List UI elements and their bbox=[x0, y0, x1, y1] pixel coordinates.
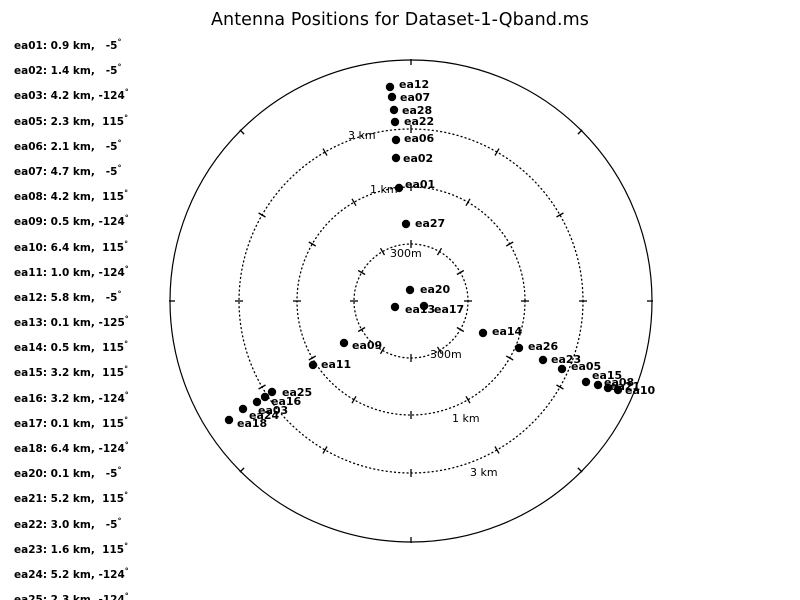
antenna-marker-ea08 bbox=[594, 381, 602, 389]
ring-tick bbox=[309, 242, 316, 246]
antenna-marker-ea18 bbox=[225, 416, 233, 424]
ring-tick bbox=[466, 199, 470, 206]
ring-tick bbox=[506, 356, 513, 360]
ring-tick bbox=[358, 328, 365, 332]
antenna-marker-ea12 bbox=[386, 83, 394, 91]
ring-tick bbox=[556, 385, 563, 389]
ring-tick bbox=[556, 213, 563, 217]
antenna-marker-ea23 bbox=[539, 356, 547, 364]
antenna-marker-ea20 bbox=[406, 286, 414, 294]
ring-label-1km: 1 km bbox=[370, 183, 398, 196]
antenna-label-ea09: ea09 bbox=[352, 339, 382, 352]
ring-tick bbox=[352, 199, 356, 206]
antenna-marker-ea15 bbox=[582, 378, 590, 386]
antenna-marker-ea17 bbox=[420, 302, 428, 310]
antenna-marker-ea09 bbox=[340, 339, 348, 347]
ring-tick bbox=[466, 396, 470, 403]
ring-label-1km: 1 km bbox=[452, 412, 480, 425]
antenna-marker-ea25 bbox=[268, 388, 276, 396]
antenna-label-ea01: ea01 bbox=[405, 178, 435, 191]
radial-ring-1km bbox=[297, 187, 525, 415]
outer-tick bbox=[240, 130, 244, 134]
ring-tick bbox=[259, 213, 266, 217]
antenna-label-ea27: ea27 bbox=[415, 217, 445, 230]
polar-plot-area: 300m300m1 km1 km3 km3 km ea01ea02ea03ea0… bbox=[0, 0, 800, 600]
ring-label-300m: 300m bbox=[390, 247, 422, 260]
antenna-label-ea20: ea20 bbox=[420, 283, 451, 296]
ring-tick bbox=[352, 396, 356, 403]
antenna-position-plot-page: Antenna Positions for Dataset-1-Qband.ms… bbox=[0, 0, 800, 600]
polar-plot-svg: 300m300m1 km1 km3 km3 km ea01ea02ea03ea0… bbox=[0, 0, 800, 600]
outer-tick bbox=[578, 468, 582, 472]
antenna-label-ea26: ea26 bbox=[528, 340, 559, 353]
antenna-label-ea07: ea07 bbox=[400, 91, 430, 104]
antenna-marker-ea01 bbox=[395, 184, 403, 192]
outer-tick bbox=[578, 130, 582, 134]
antenna-marker-ea16 bbox=[261, 393, 269, 401]
antenna-label-ea12: ea12 bbox=[399, 78, 429, 91]
antenna-marker-ea05 bbox=[558, 365, 566, 373]
antenna-label-ea11: ea11 bbox=[321, 358, 351, 371]
antenna-label-ea17: ea17 bbox=[434, 303, 464, 316]
ring-tick bbox=[323, 446, 327, 453]
ring-label-3km: 3 km bbox=[470, 466, 498, 479]
antenna-marker-ea13 bbox=[391, 303, 399, 311]
ring-tick bbox=[259, 385, 266, 389]
antenna-label-ea23: ea23 bbox=[551, 353, 581, 366]
antenna-marker-ea06 bbox=[392, 136, 400, 144]
ring-tick bbox=[358, 271, 365, 275]
antenna-markers: ea01ea02ea03ea05ea06ea07ea08ea09ea10ea11… bbox=[225, 78, 656, 430]
antenna-marker-ea02 bbox=[392, 154, 400, 162]
antenna-label-ea25: ea25 bbox=[282, 386, 312, 399]
antenna-marker-ea27 bbox=[402, 220, 410, 228]
ring-tick bbox=[381, 248, 385, 255]
antenna-label-ea24: ea24 bbox=[249, 409, 280, 422]
antenna-marker-ea14 bbox=[479, 329, 487, 337]
antenna-label-ea02: ea02 bbox=[403, 152, 433, 165]
ring-tick bbox=[438, 248, 442, 255]
antenna-label-ea28: ea28 bbox=[402, 104, 432, 117]
antenna-label-ea14: ea14 bbox=[492, 325, 523, 338]
ring-tick bbox=[506, 242, 513, 246]
ring-label-3km: 3 km bbox=[348, 129, 376, 142]
antenna-marker-ea11 bbox=[309, 361, 317, 369]
antenna-marker-ea26 bbox=[515, 344, 523, 352]
antenna-marker-ea24 bbox=[239, 405, 247, 413]
antenna-marker-ea07 bbox=[388, 93, 396, 101]
ring-label-300m: 300m bbox=[430, 348, 462, 361]
ring-tick bbox=[457, 271, 464, 275]
ring-tick bbox=[457, 328, 464, 332]
ring-tick bbox=[495, 149, 499, 156]
ring-tick bbox=[309, 356, 316, 360]
ring-tick bbox=[495, 446, 499, 453]
outer-tick bbox=[240, 468, 244, 472]
antenna-marker-ea28 bbox=[390, 106, 398, 114]
ring-tick bbox=[323, 149, 327, 156]
antenna-label-ea06: ea06 bbox=[404, 132, 435, 145]
antenna-marker-ea22 bbox=[391, 118, 399, 126]
antenna-label-ea21: ea21 bbox=[610, 380, 640, 393]
